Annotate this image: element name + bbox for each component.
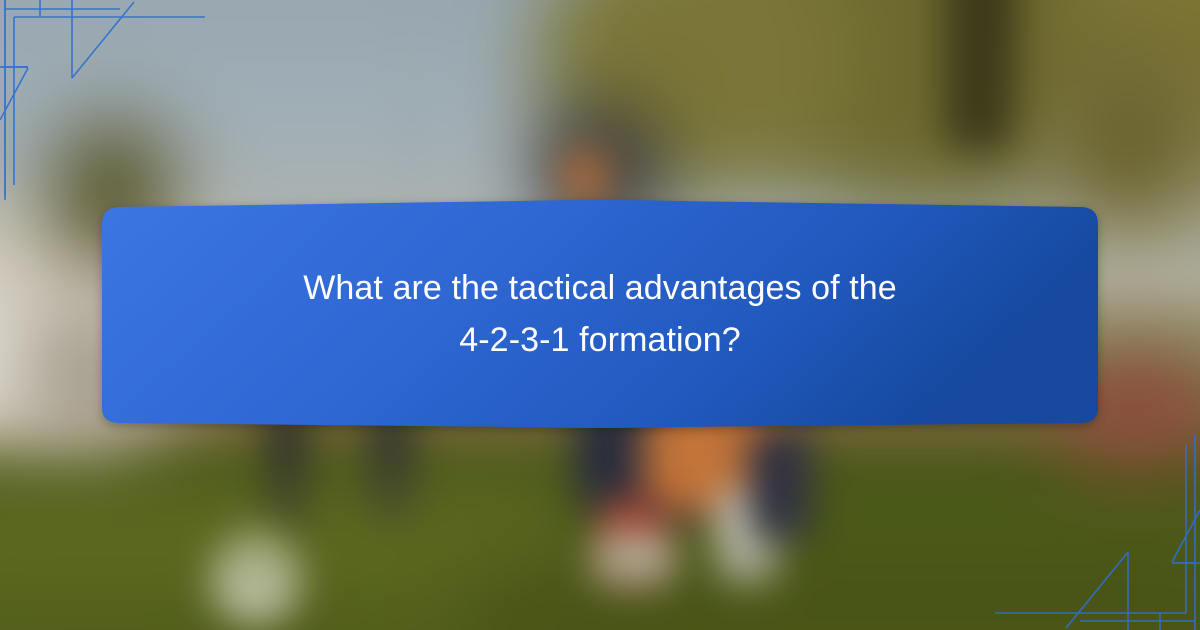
player-leg-far-right bbox=[748, 426, 812, 543]
grass-shadow-band bbox=[462, 554, 1200, 630]
question-card: What are the tactical advantages of the … bbox=[100, 196, 1100, 432]
screenshot-root: What are the tactical advantages of the … bbox=[0, 0, 1200, 630]
tree-trunk-dark bbox=[945, 0, 1019, 151]
light-pole bbox=[407, 0, 417, 172]
question-text: What are the tactical advantages of the … bbox=[100, 196, 1100, 432]
